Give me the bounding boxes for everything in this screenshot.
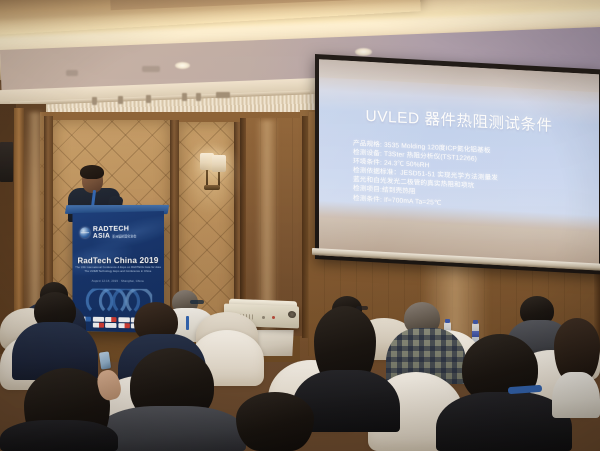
track-light-head xyxy=(146,95,151,103)
track-light-head xyxy=(92,97,97,105)
event-date: August 12-14, 2019 · Shanghai, China xyxy=(72,279,164,283)
attendee-head-long-hair xyxy=(236,392,314,451)
projector-indicator xyxy=(272,316,275,319)
sponsor-logo xyxy=(105,316,116,321)
event-title: RadTech China 2019 xyxy=(72,255,164,265)
presenter-hair xyxy=(80,165,104,179)
ceiling-air-vent xyxy=(66,70,78,76)
podium-wordmark: RADTECH ASIA亚洲辐射固化协会 xyxy=(93,224,137,239)
attendee-head-long-hair xyxy=(554,318,600,380)
wall-light-reflection xyxy=(256,120,278,330)
event-subtitle-2: The UV/EB Technology Expo and Conference… xyxy=(72,270,164,274)
sconce-arm xyxy=(206,170,208,186)
projection-screen-surface: UVLED 器件热阻测试条件 产品规格: 3535 Molding 120度IC… xyxy=(319,59,599,270)
globe-icon xyxy=(80,227,90,238)
sconce-light-halo xyxy=(181,138,243,216)
track-light-head xyxy=(118,96,123,104)
track-light-head xyxy=(216,92,230,98)
sponsor-logo xyxy=(118,317,129,322)
slide-body-text: 产品规格: 3535 Molding 120度ICP氮化铝基板 检测设备: T3… xyxy=(353,139,583,215)
smartphone xyxy=(99,351,111,369)
projection-screen-frame: UVLED 器件热阻测试条件 产品规格: 3535 Molding 120度IC… xyxy=(315,54,600,275)
ceiling-downlight xyxy=(355,48,372,56)
sunglasses xyxy=(190,300,204,304)
slide-content-area: UVLED 器件热阻测试条件 产品规格: 3535 Molding 120度IC… xyxy=(319,77,599,232)
projector-indicator xyxy=(262,316,265,319)
attendee-lanyard xyxy=(186,316,189,330)
slide-title: UVLED 器件热阻测试条件 xyxy=(319,101,599,138)
sconce-shade xyxy=(212,155,226,172)
ceiling-air-vent xyxy=(142,66,160,72)
attendee-shoulders xyxy=(96,406,246,451)
brand-line-2-cn: 亚洲辐射固化协会 xyxy=(112,234,136,238)
brand-line-2: ASIA亚洲辐射固化协会 xyxy=(93,232,137,240)
attendee-shoulders xyxy=(0,420,118,451)
wall-loudspeaker xyxy=(0,142,13,182)
sconce-arm xyxy=(218,172,220,186)
sponsor-logo xyxy=(93,323,104,328)
water-bottle-label xyxy=(472,331,479,337)
attendee-shoulders xyxy=(552,372,600,418)
projector-lens xyxy=(288,311,296,318)
track-light-head xyxy=(182,93,187,101)
track-light-head xyxy=(196,93,201,101)
sponsor-logo xyxy=(105,323,116,328)
sponsor-logo xyxy=(118,323,129,328)
conference-room-photo: UVLED 器件热阻测试条件 产品规格: 3535 Molding 120度IC… xyxy=(0,0,600,451)
ceiling-downlight xyxy=(175,62,190,69)
sconce-wall-mount xyxy=(204,185,220,190)
sponsor-logo xyxy=(93,316,104,321)
podium-logo: RADTECH ASIA亚洲辐射固化协会 xyxy=(80,223,156,240)
